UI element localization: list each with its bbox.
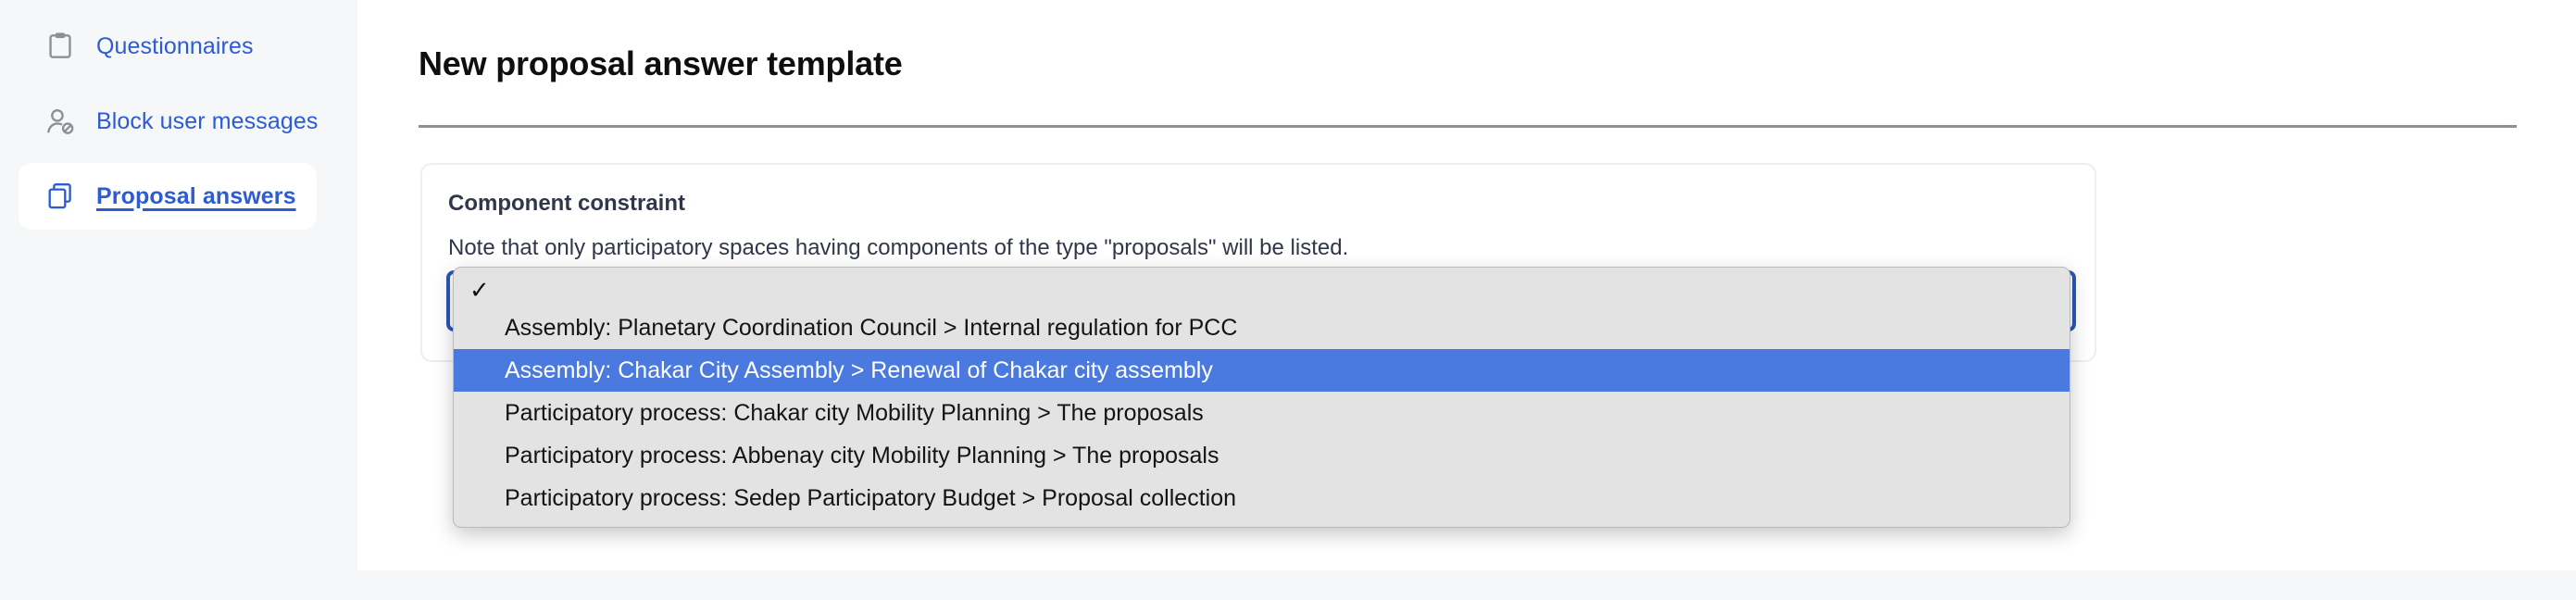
participatory-space-dropdown-list[interactable]: ✓ Assembly: Planetary Coordination Counc… xyxy=(453,267,2070,528)
dropdown-option[interactable]: Participatory process: Chakar city Mobil… xyxy=(454,392,2070,434)
sidebar-item-label: Questionnaires xyxy=(96,33,254,60)
copy-icon xyxy=(44,181,76,212)
sidebar-item-label: Proposal answers xyxy=(96,183,296,210)
sidebar-item-label: Block user messages xyxy=(96,108,319,135)
clipboard-icon xyxy=(44,31,76,62)
dropdown-option[interactable]: ✓ xyxy=(454,273,2070,306)
dropdown-option-label: Participatory process: Abbenay city Mobi… xyxy=(505,443,1219,469)
sidebar-item-proposal-answers[interactable]: Proposal answers xyxy=(19,163,317,230)
page-title: New proposal answer template xyxy=(419,44,903,83)
sidebar-item-block-user-messages[interactable]: Block user messages xyxy=(19,88,317,155)
dropdown-option[interactable]: Participatory process: Abbenay city Mobi… xyxy=(454,434,2070,477)
dropdown-option-label: Assembly: Chakar City Assembly > Renewal… xyxy=(505,357,1213,383)
section-note: Note that only participatory spaces havi… xyxy=(448,235,1348,261)
sidebar: Questionnaires Block user messages P xyxy=(0,0,357,600)
dropdown-option[interactable]: Assembly: Planetary Coordination Council… xyxy=(454,306,2070,349)
title-divider xyxy=(419,125,2517,128)
user-block-icon xyxy=(44,106,76,137)
dropdown-option-highlighted[interactable]: Assembly: Chakar City Assembly > Renewal… xyxy=(454,349,2070,392)
dropdown-option-label: Assembly: Planetary Coordination Council… xyxy=(505,315,1237,341)
dropdown-option-label: Participatory process: Chakar city Mobil… xyxy=(505,400,1204,426)
check-icon: ✓ xyxy=(469,273,490,306)
dropdown-option-label: Participatory process: Sedep Participato… xyxy=(505,485,1236,511)
dropdown-option[interactable]: Participatory process: Sedep Participato… xyxy=(454,477,2070,519)
app-root: Questionnaires Block user messages P xyxy=(0,0,2576,600)
section-title: Component constraint xyxy=(448,191,685,217)
sidebar-item-questionnaires[interactable]: Questionnaires xyxy=(19,13,317,80)
